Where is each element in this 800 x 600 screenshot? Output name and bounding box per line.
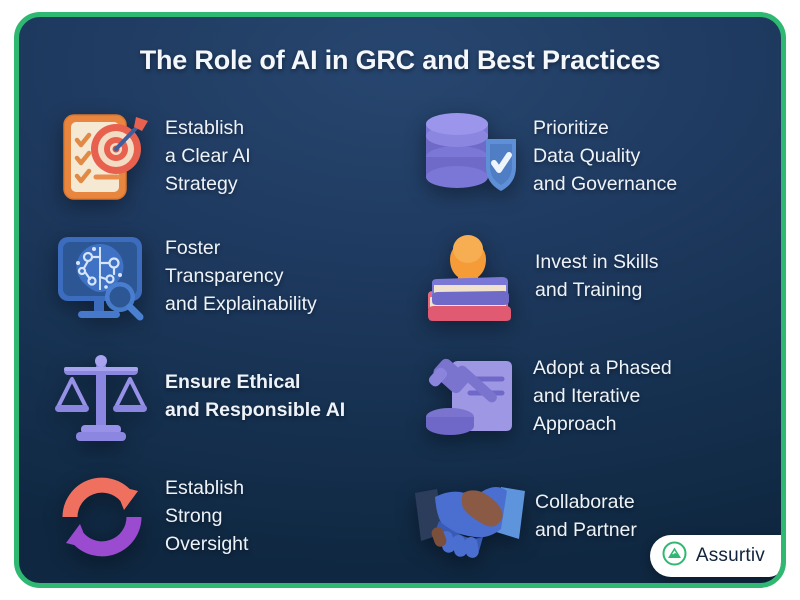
practice-label-line: and Governance xyxy=(533,171,677,199)
practice-label: Invest in Skills and Training xyxy=(533,249,659,304)
practice-label-line: Invest in Skills xyxy=(535,249,659,277)
practice-label: Adopt a Phased and Iterative Approach xyxy=(533,355,672,438)
practice-label: Ensure Ethical and Responsible AI xyxy=(165,369,345,424)
practice-label-line: Data Quality xyxy=(533,143,677,171)
practices-column-right: Prioritize Data Quality and Governance xyxy=(411,97,766,577)
practice-item-ensure-ethical-responsible-ai[interactable]: Ensure Ethical and Responsible AI xyxy=(43,337,398,457)
practice-label-line: and Explainability xyxy=(165,291,317,319)
practice-label-line: Establish xyxy=(165,475,248,503)
circular-arrows-cycle-icon xyxy=(43,462,161,572)
practice-item-establish-strong-oversight[interactable]: Establish Strong Oversight xyxy=(43,457,398,577)
practice-label: Establish Strong Oversight xyxy=(165,475,248,558)
practice-label: Establish a Clear AI Strategy xyxy=(165,115,251,198)
practice-item-establish-clear-ai-strategy[interactable]: Establish a Clear AI Strategy xyxy=(43,97,398,217)
practice-label-line: Transparency xyxy=(165,263,317,291)
practice-label-line: Oversight xyxy=(165,531,248,559)
practice-label-line: and Partner xyxy=(535,517,637,545)
practice-item-adopt-phased-iterative-approach[interactable]: Adopt a Phased and Iterative Approach xyxy=(411,337,766,457)
clipboard-checklist-target-icon xyxy=(43,102,161,212)
lightbulb-books-icon xyxy=(411,222,529,332)
brand-name: Assurtiv xyxy=(696,545,765,567)
practice-label-line: and Responsible AI xyxy=(165,397,345,425)
practice-label-line: Ensure Ethical xyxy=(165,369,345,397)
practice-label-line: Foster xyxy=(165,235,317,263)
balance-scales-icon xyxy=(43,342,161,452)
practice-label-line: Adopt a Phased xyxy=(533,355,672,383)
practice-label-line: and Iterative xyxy=(533,383,672,411)
assurtiv-mountain-circle-logo xyxy=(662,541,687,571)
practice-label-line: and Training xyxy=(535,277,659,305)
page-title: The Role of AI in GRC and Best Practices xyxy=(19,45,781,76)
practice-item-prioritize-data-quality-governance[interactable]: Prioritize Data Quality and Governance xyxy=(411,97,766,217)
practice-label-line: Strategy xyxy=(165,171,251,199)
practice-label: Foster Transparency and Explainability xyxy=(165,235,317,318)
infographic-card: The Role of AI in GRC and Best Practices xyxy=(14,12,786,588)
practice-item-foster-transparency-explainability[interactable]: Foster Transparency and Explainability xyxy=(43,217,398,337)
practice-label-line: Prioritize xyxy=(533,115,677,143)
brand-badge[interactable]: Assurtiv xyxy=(650,535,783,577)
practice-label: Collaborate and Partner xyxy=(533,489,637,544)
gavel-document-icon xyxy=(411,342,529,452)
handshake-icon xyxy=(411,462,529,572)
database-shield-check-icon xyxy=(411,102,529,212)
practices-column-left: Establish a Clear AI Strategy xyxy=(43,97,398,577)
practice-label-line: Establish xyxy=(165,115,251,143)
practice-label-line: Approach xyxy=(533,411,672,439)
practice-label-line: Strong xyxy=(165,503,248,531)
practice-label: Prioritize Data Quality and Governance xyxy=(533,115,677,198)
monitor-ai-brain-magnifier-icon xyxy=(43,222,161,332)
practice-label-line: Collaborate xyxy=(535,489,637,517)
practice-label-line: a Clear AI xyxy=(165,143,251,171)
practice-item-invest-in-skills-training[interactable]: Invest in Skills and Training xyxy=(411,217,766,337)
